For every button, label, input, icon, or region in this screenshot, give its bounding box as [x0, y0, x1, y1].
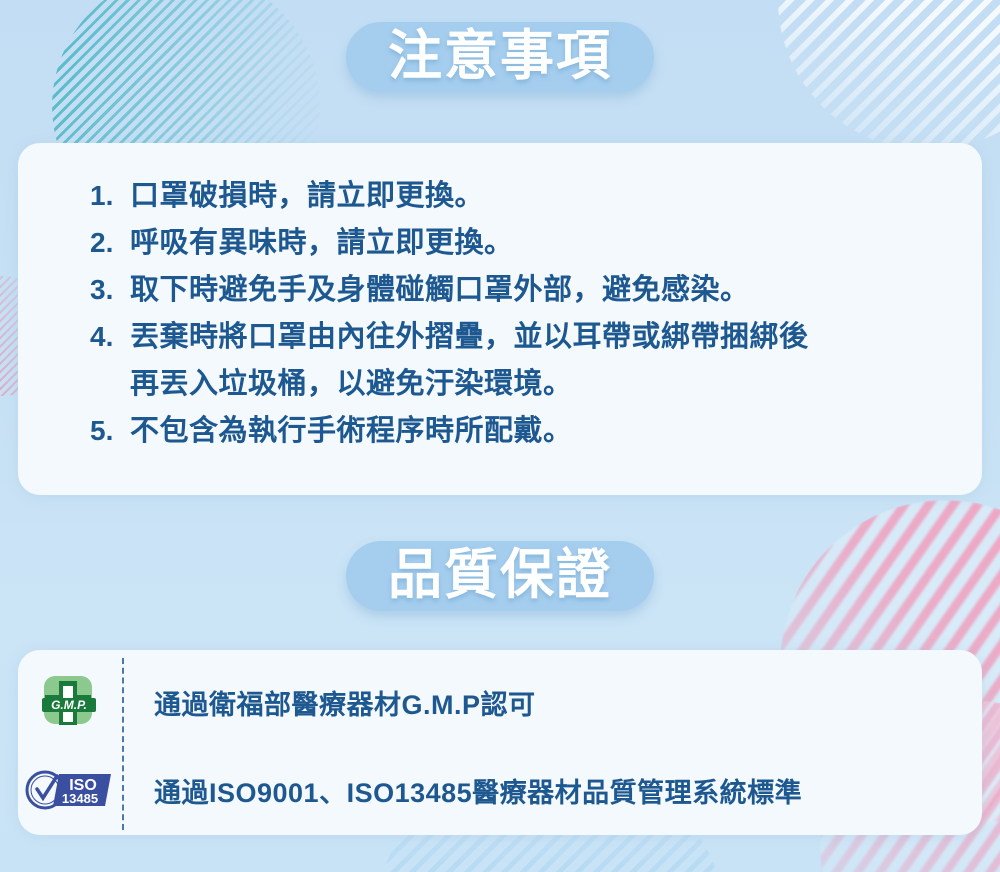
notes-heading-pill: 注意事項: [346, 22, 654, 92]
list-item: 3. 取下時避免手及身體碰觸口罩外部，避免感染。: [18, 267, 982, 314]
iso-13485-certification-icon: ISO 13485: [23, 769, 113, 811]
certification-row-iso: ISO 13485 通過ISO9001、ISO13485醫療器材品質管理系統標準: [22, 760, 952, 820]
quality-heading-pill: 品質保證: [346, 541, 654, 611]
certification-text-gmp: 通過衛福部醫療器材G.M.P認可: [140, 683, 536, 722]
list-item-number: 3.: [90, 267, 130, 312]
certification-row-gmp: G.M.P. 通過衛福部醫療器材G.M.P認可: [22, 672, 952, 732]
list-item-text: 丟棄時將口罩由內往外摺疊，並以耳帶或綁帶捆綁後: [130, 314, 809, 361]
list-item-continuation: 再丟入垃圾桶，以避免汙染環境。: [18, 361, 982, 408]
notes-heading-container: 注意事項: [0, 22, 1000, 92]
list-item-text: 取下時避免手及身體碰觸口罩外部，避免感染。: [130, 267, 750, 314]
list-item: 1. 口罩破損時，請立即更換。: [18, 173, 982, 220]
list-item-text: 口罩破損時，請立即更換。: [130, 173, 484, 220]
list-item-number: 4.: [90, 314, 130, 359]
list-item-number: 1.: [90, 173, 130, 218]
infographic-page: 注意事項 1. 口罩破損時，請立即更換。 2. 呼吸有異味時，請立即更換。 3.…: [0, 0, 1000, 872]
list-item: 2. 呼吸有異味時，請立即更換。: [18, 220, 982, 267]
notes-card: 1. 口罩破損時，請立即更換。 2. 呼吸有異味時，請立即更換。 3. 取下時避…: [18, 143, 982, 495]
gmp-badge-cell: G.M.P.: [22, 674, 114, 730]
iso-badge-label-secondary: 13485: [62, 791, 98, 806]
gmp-badge-label: G.M.P.: [51, 698, 87, 712]
quality-heading-container: 品質保證: [0, 541, 1000, 611]
notes-heading-text: 注意事項: [388, 29, 612, 83]
gmp-certification-icon: G.M.P.: [32, 674, 104, 730]
list-item: 4. 丟棄時將口罩由內往外摺疊，並以耳帶或綁帶捆綁後: [18, 314, 982, 361]
list-item-text: 不包含為執行手術程序時所配戴。: [130, 408, 573, 455]
list-item-number: 5.: [90, 408, 130, 453]
iso-badge-cell: ISO 13485: [22, 769, 114, 811]
notes-list: 1. 口罩破損時，請立即更換。 2. 呼吸有異味時，請立即更換。 3. 取下時避…: [18, 143, 982, 455]
quality-heading-text: 品質保證: [388, 548, 612, 602]
list-item: 5. 不包含為執行手術程序時所配戴。: [18, 408, 982, 455]
list-item-number: 2.: [90, 220, 130, 265]
list-item-text: 呼吸有異味時，請立即更換。: [130, 220, 514, 267]
certification-text-iso: 通過ISO9001、ISO13485醫療器材品質管理系統標準: [140, 771, 802, 810]
